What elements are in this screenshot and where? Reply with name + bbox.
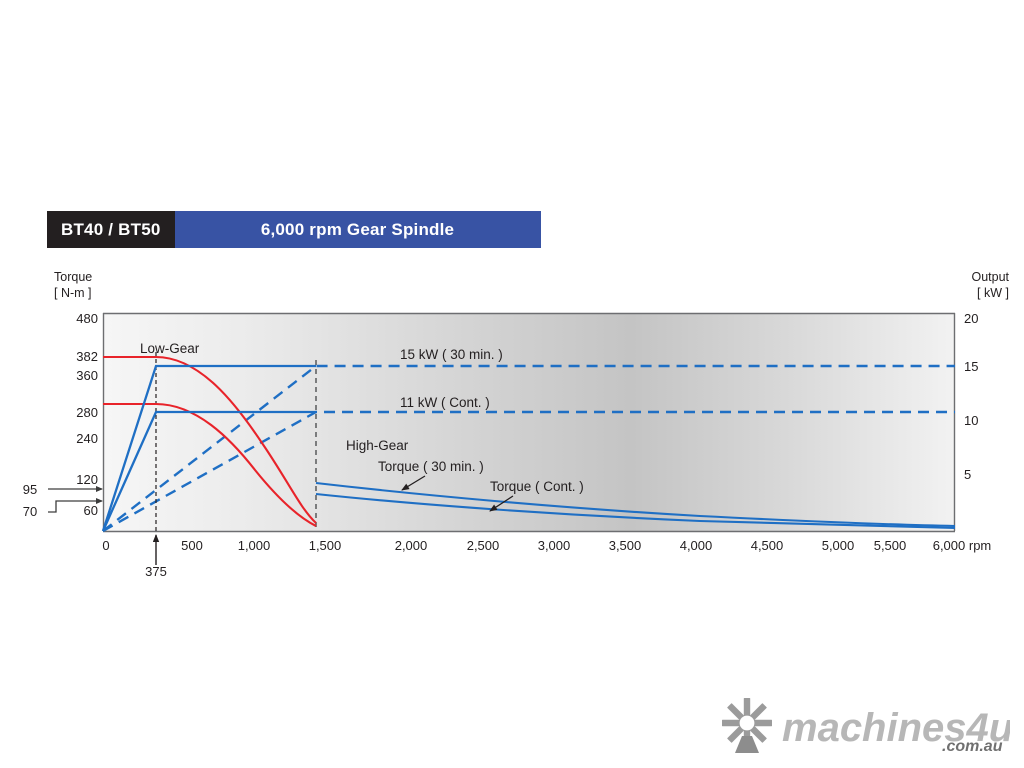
- asterisk-burst-icon: [722, 698, 772, 753]
- slide-canvas: BT40 / BT50 6,000 rpm Gear Spindle Torqu…: [0, 0, 1024, 768]
- x-tick-3500: 3,500: [609, 538, 642, 553]
- annotation-torque-30min: Torque ( 30 min. ): [378, 459, 484, 474]
- machines4u-logo[interactable]: machines4u .com.au: [718, 697, 1010, 755]
- x-tick-1500: 1,500: [309, 538, 342, 553]
- y-tick-382: 382: [76, 349, 98, 364]
- y-tick-120: 120: [76, 472, 98, 487]
- x-tick-500: 500: [181, 538, 203, 553]
- y-tick-280: 280: [76, 405, 98, 420]
- annotation-power-cont: 11 kW ( Cont. ): [400, 395, 490, 410]
- x-axis-ticks: 0 500 1,000 1,500 2,000 2,500 3,000 3,50…: [102, 538, 991, 553]
- y-tick-240: 240: [76, 431, 98, 446]
- annotation-power-30min: 15 kW ( 30 min. ): [400, 347, 503, 362]
- y-tick-360: 360: [76, 368, 98, 383]
- x-tick-6000: 6,000 rpm: [933, 538, 992, 553]
- callout-70-label: 70: [23, 504, 37, 519]
- plot-background: [103, 313, 955, 531]
- y2-tick-15: 15: [964, 359, 978, 374]
- annotation-torque-cont: Torque ( Cont. ): [490, 479, 584, 494]
- x-tick-2000: 2,000: [395, 538, 428, 553]
- y-tick-480: 480: [76, 311, 98, 326]
- x-tick-1000: 1,000: [238, 538, 271, 553]
- x-tick-4500: 4,500: [751, 538, 784, 553]
- logo-suffix: .com.au: [942, 738, 1003, 755]
- x-tick-375-label: 375: [145, 564, 167, 579]
- x-special-tick-375: 375: [145, 535, 167, 579]
- callout-95-label: 95: [23, 482, 37, 497]
- y-axis-right-ticks: 20 15 10 5: [964, 311, 978, 482]
- y-axis-left-ticks: 480 382 360 280 240 120 60: [76, 311, 98, 518]
- x-tick-4000: 4,000: [680, 538, 713, 553]
- x-tick-0: 0: [102, 538, 109, 553]
- x-tick-3000: 3,000: [538, 538, 571, 553]
- y-tick-60: 60: [84, 503, 98, 518]
- annotation-low-gear: Low-Gear: [140, 341, 200, 356]
- x-tick-5000: 5,000: [822, 538, 855, 553]
- torque-output-chart: 480 382 360 280 240 120 60 95 70 20 15 1…: [0, 0, 1024, 768]
- x-tick-5500: 5,500: [874, 538, 907, 553]
- annotation-high-gear: High-Gear: [346, 438, 409, 453]
- y2-tick-5: 5: [964, 467, 971, 482]
- x-tick-2500: 2,500: [467, 538, 500, 553]
- y2-tick-20: 20: [964, 311, 978, 326]
- y2-tick-10: 10: [964, 413, 978, 428]
